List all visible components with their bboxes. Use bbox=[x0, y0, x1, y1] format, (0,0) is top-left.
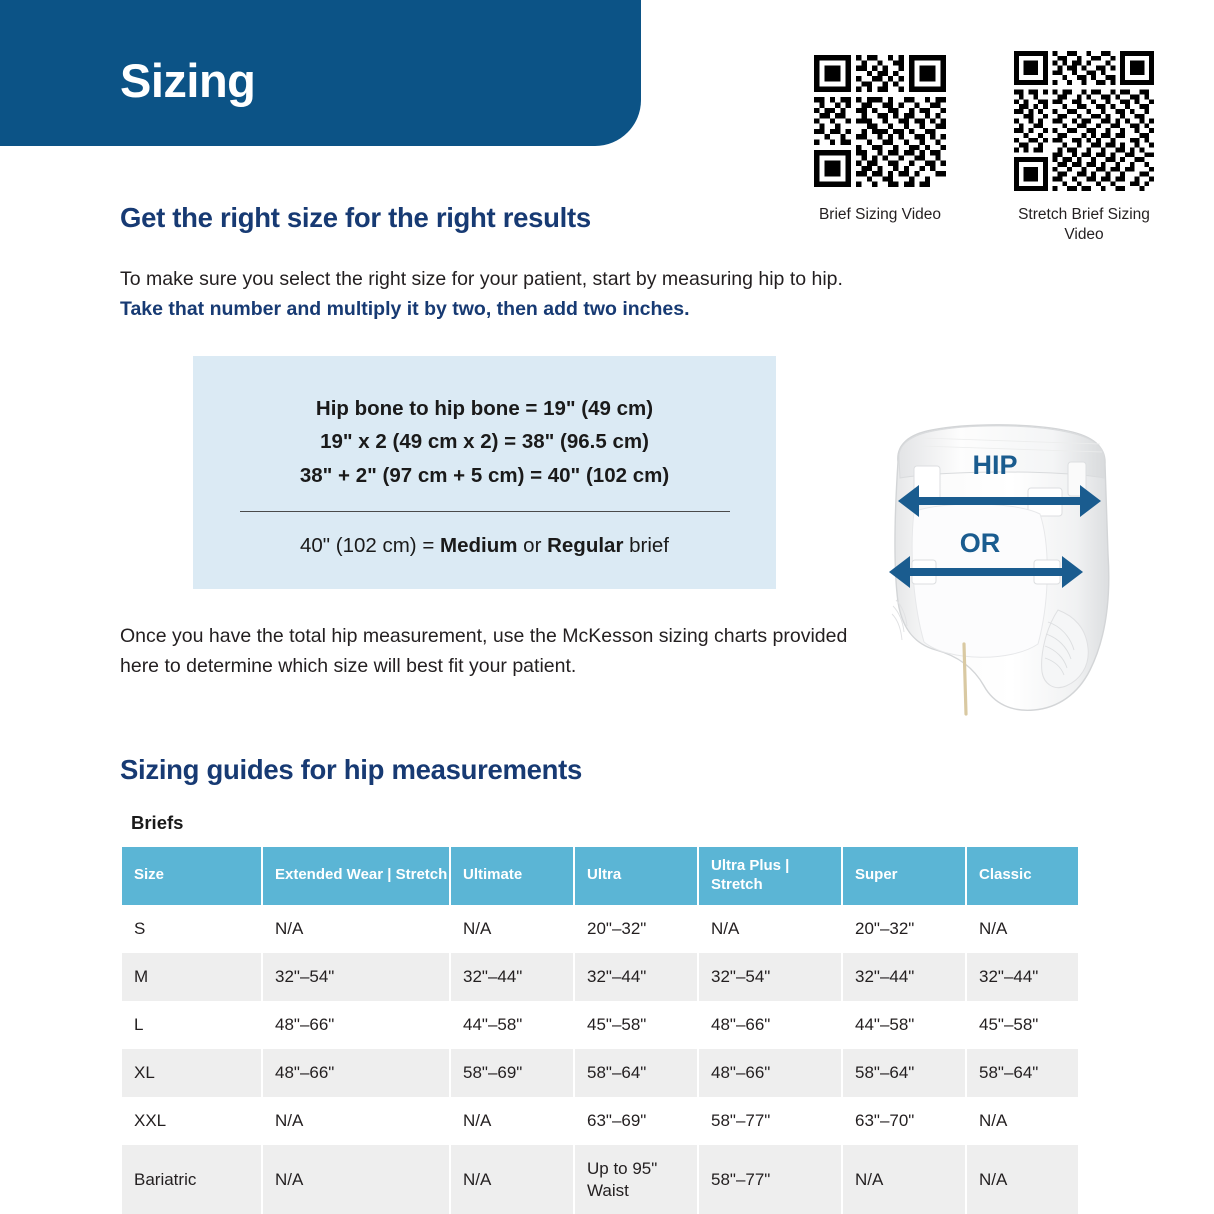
qr-caption-brief: Brief Sizing Video bbox=[793, 205, 967, 225]
cell-extended-wear: N/A bbox=[263, 905, 449, 953]
table-row: L 48"–66" 44"–58" 45"–58" 48"–66" 44"–58… bbox=[122, 1001, 1078, 1049]
qr-block-stretch-brief-sizing-video[interactable]: Stretch Brief Sizing Video bbox=[997, 50, 1171, 245]
calc-result-bold-regular: Regular bbox=[547, 534, 623, 557]
sizing-page: Sizing bbox=[0, 0, 1214, 1214]
cell-classic: 58"–64" bbox=[967, 1049, 1078, 1097]
cell-super: 63"–70" bbox=[843, 1097, 965, 1145]
calc-line-3: 38" + 2" (97 cm + 5 cm) = 40" (102 cm) bbox=[193, 459, 776, 492]
cell-ultimate: 58"–69" bbox=[451, 1049, 573, 1097]
or-label: OR bbox=[960, 528, 1001, 558]
cell-extended-wear: 48"–66" bbox=[263, 1049, 449, 1097]
cell-classic: N/A bbox=[967, 905, 1078, 953]
table-row: M 32"–54" 32"–44" 32"–44" 32"–54" 32"–44… bbox=[122, 953, 1078, 1001]
cell-classic: 32"–44" bbox=[967, 953, 1078, 1001]
cell-ultra: 45"–58" bbox=[575, 1001, 697, 1049]
cell-classic: N/A bbox=[967, 1145, 1078, 1214]
table-row: Bariatric N/A N/A Up to 95" Waist 58"–77… bbox=[122, 1145, 1078, 1214]
cell-extended-wear: 32"–54" bbox=[263, 953, 449, 1001]
table-subheading-briefs: Briefs bbox=[131, 812, 183, 834]
cell-ultra: 58"–64" bbox=[575, 1049, 697, 1097]
cell-ultimate: N/A bbox=[451, 905, 573, 953]
cell-ultra: 20"–32" bbox=[575, 905, 697, 953]
column-header-ultra-plus: Ultra Plus | Stretch bbox=[699, 847, 841, 905]
calc-result-prefix: 40" (102 cm) = bbox=[300, 534, 440, 557]
table-header-row: Size Extended Wear | Stretch Ultimate Ul… bbox=[122, 847, 1078, 905]
column-header-size: Size bbox=[122, 847, 261, 905]
cell-ultimate: 44"–58" bbox=[451, 1001, 573, 1049]
column-header-classic: Classic bbox=[967, 847, 1078, 905]
brief-diagram-icon: HIP OR bbox=[862, 404, 1142, 734]
calc-result-middle: or bbox=[517, 534, 547, 557]
intro-paragraph: To make sure you select the right size f… bbox=[120, 265, 890, 324]
cell-ultra-plus: 58"–77" bbox=[699, 1145, 841, 1214]
qr-block-brief-sizing-video[interactable]: Brief Sizing Video bbox=[793, 50, 967, 225]
qr-code-icon[interactable] bbox=[1014, 50, 1154, 192]
cell-extended-wear: 48"–66" bbox=[263, 1001, 449, 1049]
cell-size: XXL bbox=[122, 1097, 261, 1145]
intro-text-normal: To make sure you select the right size f… bbox=[120, 268, 843, 290]
calc-result-suffix: brief bbox=[623, 534, 669, 557]
hip-label: HIP bbox=[972, 450, 1017, 480]
cell-ultra: Up to 95" Waist bbox=[575, 1145, 697, 1214]
cell-ultimate: N/A bbox=[451, 1097, 573, 1145]
table-row: XXL N/A N/A 63"–69" 58"–77" 63"–70" N/A bbox=[122, 1097, 1078, 1145]
cell-size: L bbox=[122, 1001, 261, 1049]
cell-ultra-plus: 48"–66" bbox=[699, 1001, 841, 1049]
cell-extended-wear: N/A bbox=[263, 1097, 449, 1145]
column-header-super: Super bbox=[843, 847, 965, 905]
cell-ultimate: 32"–44" bbox=[451, 953, 573, 1001]
column-header-extended-wear: Extended Wear | Stretch bbox=[263, 847, 449, 905]
calc-line-2: 19" x 2 (49 cm x 2) = 38" (96.5 cm) bbox=[193, 425, 776, 458]
cell-ultra: 63"–69" bbox=[575, 1097, 697, 1145]
section-heading: Get the right size for the right results bbox=[120, 202, 591, 234]
calc-result: 40" (102 cm) = Medium or Regular brief bbox=[193, 534, 776, 558]
cell-super: 32"–44" bbox=[843, 953, 965, 1001]
cell-super: 20"–32" bbox=[843, 905, 965, 953]
calculation-box: Hip bone to hip bone = 19" (49 cm) 19" x… bbox=[193, 356, 776, 589]
qr-caption-stretch: Stretch Brief Sizing Video bbox=[997, 205, 1171, 245]
cell-size: M bbox=[122, 953, 261, 1001]
cell-ultra-plus: N/A bbox=[699, 905, 841, 953]
cell-size: XL bbox=[122, 1049, 261, 1097]
cell-ultra-plus: 48"–66" bbox=[699, 1049, 841, 1097]
column-header-ultimate: Ultimate bbox=[451, 847, 573, 905]
cell-ultra-plus: 32"–54" bbox=[699, 953, 841, 1001]
cell-ultra: 32"–44" bbox=[575, 953, 697, 1001]
product-brief-illustration: HIP OR bbox=[862, 404, 1142, 734]
cell-extended-wear: N/A bbox=[263, 1145, 449, 1214]
calc-line-1: Hip bone to hip bone = 19" (49 cm) bbox=[193, 392, 776, 425]
cell-super: 44"–58" bbox=[843, 1001, 965, 1049]
intro-text-accent: Take that number and multiply it by two,… bbox=[120, 298, 690, 320]
outro-paragraph: Once you have the total hip measurement,… bbox=[120, 622, 850, 681]
table-section-heading: Sizing guides for hip measurements bbox=[120, 754, 582, 786]
cell-super: 58"–64" bbox=[843, 1049, 965, 1097]
table-row: XL 48"–66" 58"–69" 58"–64" 48"–66" 58"–6… bbox=[122, 1049, 1078, 1097]
table-row: S N/A N/A 20"–32" N/A 20"–32" N/A bbox=[122, 905, 1078, 953]
briefs-sizing-table: Size Extended Wear | Stretch Ultimate Ul… bbox=[120, 847, 1080, 1214]
cell-classic: N/A bbox=[967, 1097, 1078, 1145]
page-title: Sizing bbox=[120, 57, 255, 104]
qr-code-icon[interactable] bbox=[814, 50, 946, 192]
column-header-ultra: Ultra bbox=[575, 847, 697, 905]
cell-ultimate: N/A bbox=[451, 1145, 573, 1214]
cell-size: S bbox=[122, 905, 261, 953]
cell-super: N/A bbox=[843, 1145, 965, 1214]
calc-divider bbox=[240, 511, 730, 512]
cell-size: Bariatric bbox=[122, 1145, 261, 1214]
header-banner bbox=[0, 0, 641, 146]
calc-result-bold-medium: Medium bbox=[440, 534, 517, 557]
cell-classic: 45"–58" bbox=[967, 1001, 1078, 1049]
cell-ultra-plus: 58"–77" bbox=[699, 1097, 841, 1145]
